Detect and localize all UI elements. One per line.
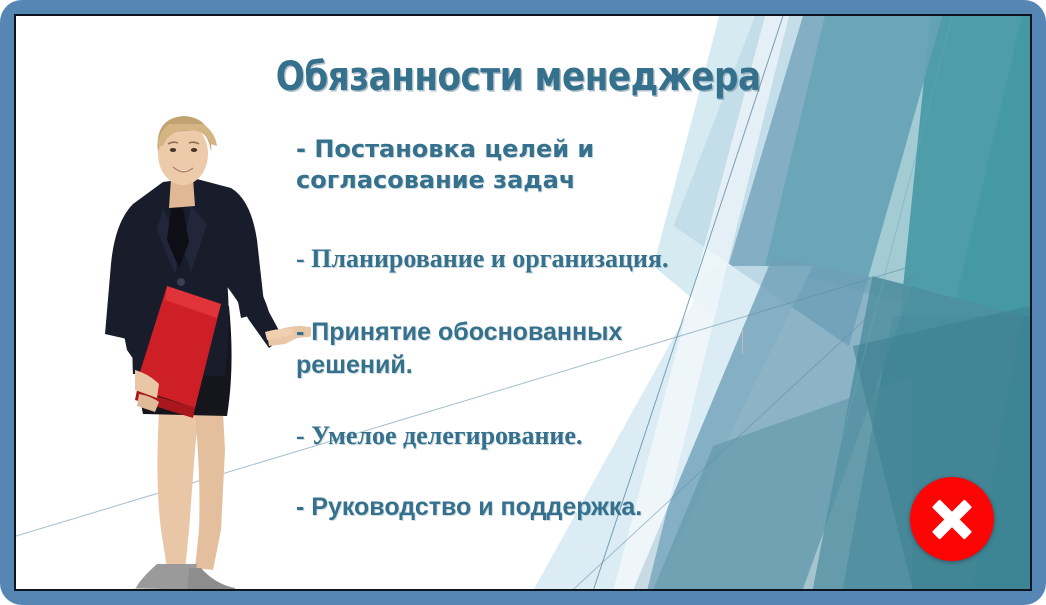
slide-title: Обязанности менеджера xyxy=(276,54,723,100)
spacer xyxy=(296,196,766,242)
businesswoman-photo xyxy=(71,112,311,591)
slide-frame: Обязанности менеджера - Постановка целей… xyxy=(0,0,1046,605)
spacer xyxy=(296,381,766,419)
bullet-item-continuation: решений. xyxy=(296,349,766,382)
spacer xyxy=(296,453,766,491)
bullet-item: - Постановка целей и xyxy=(296,134,766,165)
slide-canvas: Обязанности менеджера - Постановка целей… xyxy=(14,14,1032,591)
bullet-item: - Планирование и организация. xyxy=(296,242,766,276)
spacer xyxy=(296,276,766,316)
bullet-list: - Постановка целей и согласование задач … xyxy=(296,134,766,523)
text-caret xyxy=(742,328,743,354)
close-x-icon xyxy=(929,496,975,542)
bullet-item-continuation: согласование задач xyxy=(296,165,766,196)
close-button[interactable] xyxy=(910,477,994,561)
bullet-item: - Принятие обоснованных xyxy=(296,316,766,349)
bullet-item: - Руководство и поддержка. xyxy=(296,491,766,524)
bullet-item: - Умелое делегирование. xyxy=(296,419,766,453)
